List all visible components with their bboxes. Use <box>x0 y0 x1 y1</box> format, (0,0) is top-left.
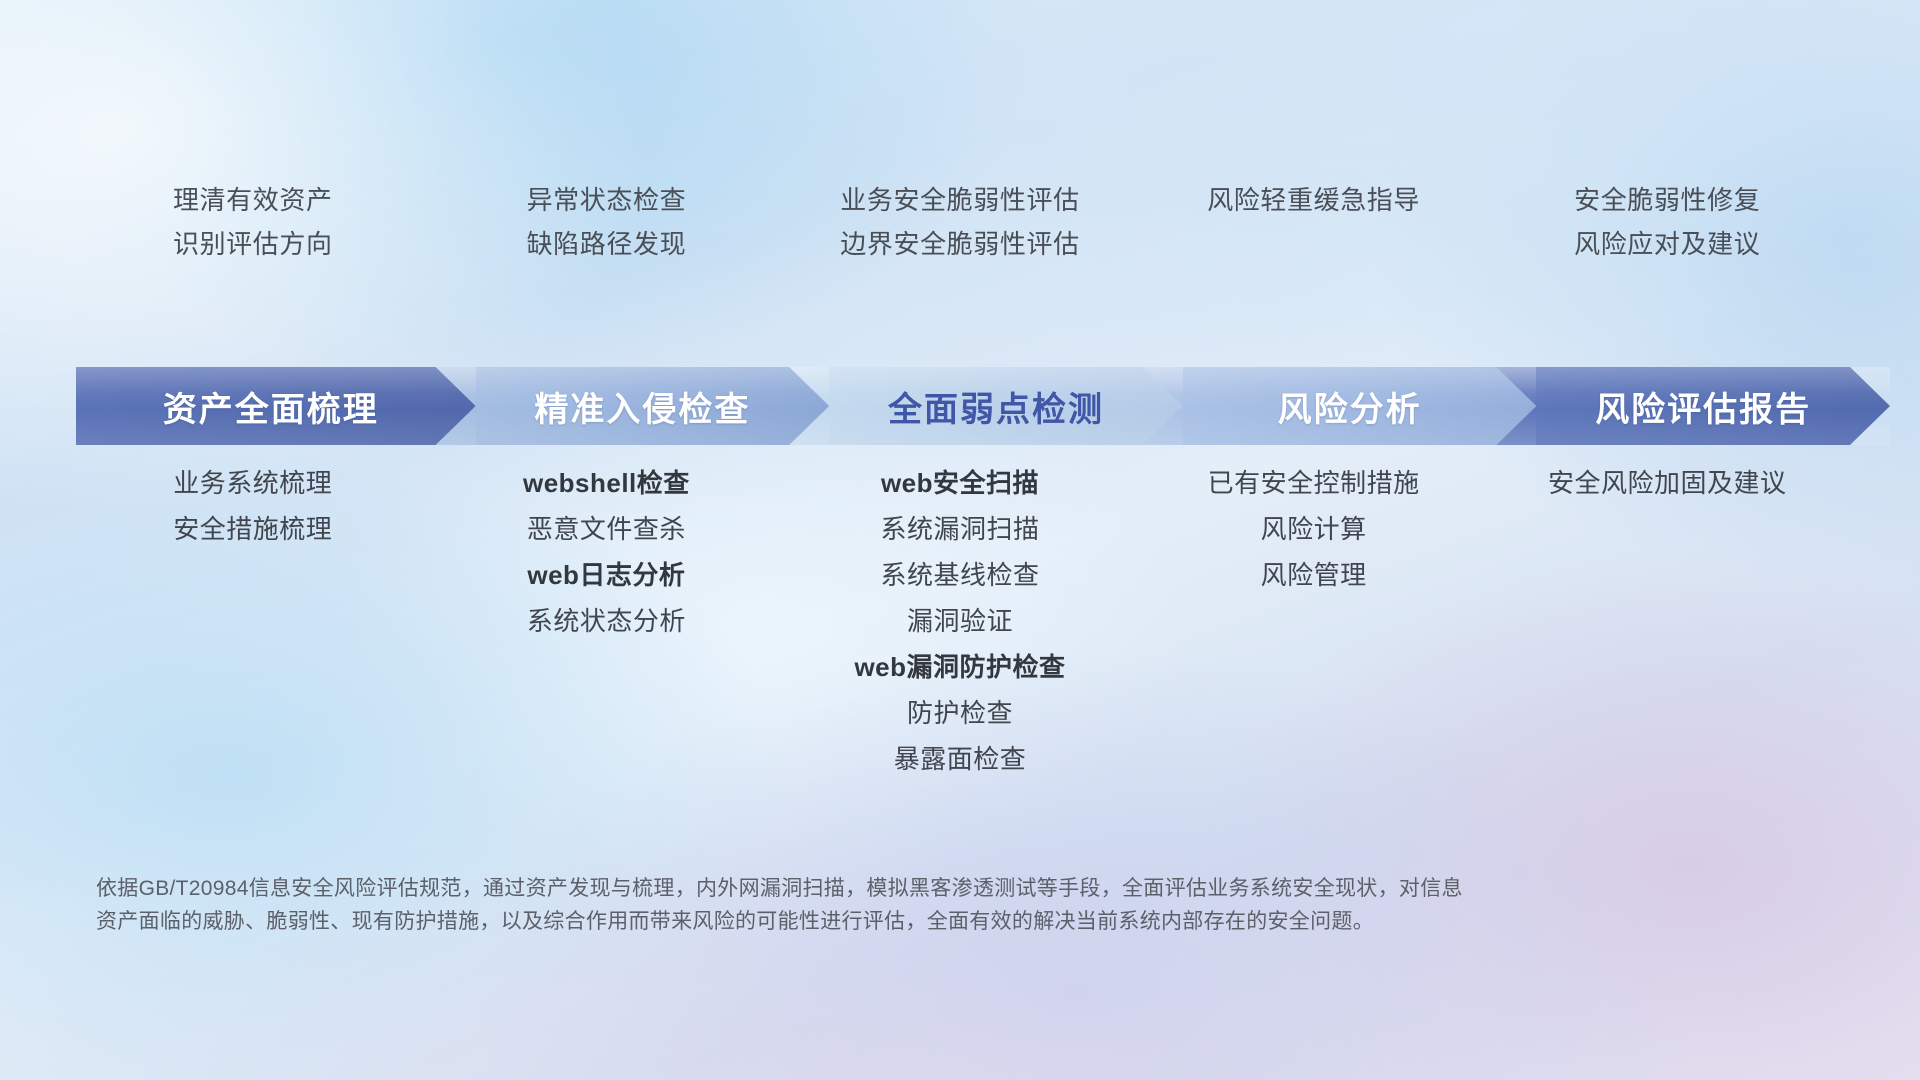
lower-note-line: web日志分析 <box>430 552 784 598</box>
lower-note-line: 系统状态分析 <box>430 598 784 644</box>
chevron-label: 风险评估报告 <box>1595 382 1811 431</box>
chevron-stage-asset-inventory[interactable]: 资产全面梳理 <box>76 367 476 445</box>
lower-note-line: 系统基线检查 <box>783 552 1137 598</box>
upper-note-line: 安全脆弱性修复 <box>1490 178 1844 222</box>
upper-note-line: 风险轻重缓急指导 <box>1137 178 1491 222</box>
lower-note-line: 漏洞验证 <box>783 598 1137 644</box>
lower-notes-asset-inventory: 业务系统梳理安全措施梳理 <box>76 460 430 782</box>
chevron-stage-intrusion-check[interactable]: 精准入侵检查 <box>430 367 830 445</box>
chevron-stage-weakness-detection[interactable]: 全面弱点检测 <box>783 367 1183 445</box>
lower-notes-assessment-report: 安全风险加固及建议 <box>1490 460 1844 782</box>
lower-note-line: web安全扫描 <box>783 460 1137 506</box>
chevron-label: 全面弱点检测 <box>888 382 1104 431</box>
upper-note-line: 理清有效资产 <box>76 178 430 222</box>
lower-note-line: 已有安全控制措施 <box>1137 460 1491 506</box>
upper-notes-intrusion-check: 异常状态检查缺陷路径发现 <box>430 178 784 266</box>
chevron-label: 资产全面梳理 <box>163 382 379 431</box>
lower-notes-risk-analysis: 已有安全控制措施风险计算风险管理 <box>1137 460 1491 782</box>
lower-note-line: 安全措施梳理 <box>76 506 430 552</box>
chevron-stage-risk-analysis[interactable]: 风险分析 <box>1137 367 1537 445</box>
chevron-label: 精准入侵检查 <box>534 382 750 431</box>
upper-notes-risk-analysis: 风险轻重缓急指导 <box>1137 178 1491 266</box>
lower-note-line: web漏洞防护检查 <box>783 644 1137 690</box>
lower-note-line: 防护检查 <box>783 690 1137 736</box>
lower-notes-intrusion-check: webshell检查恶意文件查杀web日志分析系统状态分析 <box>430 460 784 782</box>
lower-note-line: webshell检查 <box>430 460 784 506</box>
upper-note-line: 异常状态检查 <box>430 178 784 222</box>
lower-note-line: 暴露面检查 <box>783 736 1137 782</box>
upper-notes-asset-inventory: 理清有效资产识别评估方向 <box>76 178 430 266</box>
lower-note-line: 恶意文件查杀 <box>430 506 784 552</box>
footer-line-2: 资产面临的威胁、脆弱性、现有防护措施，以及综合作用而带来风险的可能性进行评估，全… <box>96 905 1616 938</box>
upper-notes-row: 理清有效资产识别评估方向异常状态检查缺陷路径发现业务安全脆弱性评估边界安全脆弱性… <box>76 178 1844 266</box>
upper-notes-assessment-report: 安全脆弱性修复风险应对及建议 <box>1490 178 1844 266</box>
lower-note-line: 风险计算 <box>1137 506 1491 552</box>
lower-notes-weakness-detection: web安全扫描系统漏洞扫描系统基线检查漏洞验证web漏洞防护检查防护检查暴露面检… <box>783 460 1137 782</box>
upper-note-line: 边界安全脆弱性评估 <box>783 222 1137 266</box>
lower-notes-row: 业务系统梳理安全措施梳理webshell检查恶意文件查杀web日志分析系统状态分… <box>76 460 1844 782</box>
upper-note-line: 风险应对及建议 <box>1490 222 1844 266</box>
lower-note-line: 风险管理 <box>1137 552 1491 598</box>
upper-note-line: 识别评估方向 <box>76 222 430 266</box>
upper-note-line: 业务安全脆弱性评估 <box>783 178 1137 222</box>
chevron-label: 风险分析 <box>1278 382 1422 431</box>
chevron-process-band: 资产全面梳理精准入侵检查全面弱点检测风险分析风险评估报告 <box>76 367 1844 445</box>
lower-note-line: 业务系统梳理 <box>76 460 430 506</box>
lower-note-line: 系统漏洞扫描 <box>783 506 1137 552</box>
lower-note-line: 安全风险加固及建议 <box>1490 460 1844 506</box>
upper-notes-weakness-detection: 业务安全脆弱性评估边界安全脆弱性评估 <box>783 178 1137 266</box>
footer-description: 依据GB/T20984信息安全风险评估规范，通过资产发现与梳理，内外网漏洞扫描，… <box>96 872 1616 938</box>
footer-line-1: 依据GB/T20984信息安全风险评估规范，通过资产发现与梳理，内外网漏洞扫描，… <box>96 872 1616 905</box>
process-diagram: 理清有效资产识别评估方向异常状态检查缺陷路径发现业务安全脆弱性评估边界安全脆弱性… <box>0 0 1920 1080</box>
upper-note-line: 缺陷路径发现 <box>430 222 784 266</box>
chevron-stage-assessment-report[interactable]: 风险评估报告 <box>1490 367 1890 445</box>
